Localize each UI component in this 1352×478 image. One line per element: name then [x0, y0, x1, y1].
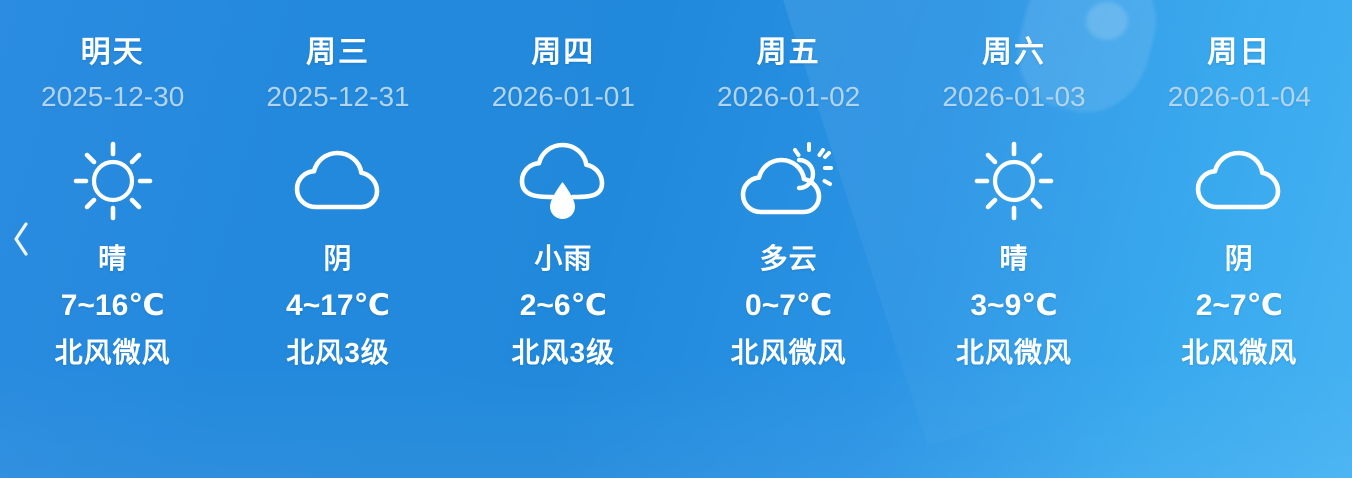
- forecast-day-card[interactable]: 周六 2026-01-03: [901, 0, 1126, 478]
- forecast-day-card[interactable]: 周五 2026-01-02: [676, 0, 901, 478]
- day-weekday-label: 周三: [306, 38, 370, 68]
- day-wind-label: 北风微风: [55, 339, 171, 367]
- day-wind-label: 北风微风: [731, 339, 847, 367]
- day-condition-label: 多云: [760, 245, 818, 273]
- sun-icon: [968, 135, 1060, 227]
- day-temperature-label: 7~16℃: [61, 291, 165, 321]
- day-temperature-label: 2~7℃: [1196, 291, 1283, 321]
- day-condition-label: 阴: [1225, 245, 1254, 273]
- day-wind-label: 北风微风: [956, 339, 1072, 367]
- forecast-day-card[interactable]: 周三 2025-12-31 阴 4~17℃ 北风3级: [225, 0, 450, 478]
- forecast-day-card[interactable]: 周日 2026-01-04 阴 2~7℃ 北风微风: [1127, 0, 1352, 478]
- weather-forecast-widget: 明天 2025-12-30: [0, 0, 1352, 478]
- day-date-label: 2026-01-04: [1168, 83, 1311, 111]
- day-weekday-label: 周六: [982, 38, 1046, 68]
- forecast-days-row: 明天 2025-12-30: [0, 0, 1352, 478]
- day-condition-label: 晴: [98, 245, 127, 273]
- day-condition-label: 阴: [323, 245, 352, 273]
- day-date-label: 2025-12-30: [41, 83, 184, 111]
- day-temperature-label: 4~17℃: [286, 291, 390, 321]
- weather-icon-container: [735, 133, 843, 229]
- day-weekday-label: 周日: [1207, 38, 1271, 68]
- day-date-label: 2026-01-03: [942, 83, 1085, 111]
- day-wind-label: 北风微风: [1181, 339, 1297, 367]
- day-temperature-label: 2~6℃: [520, 291, 607, 321]
- day-temperature-label: 0~7℃: [745, 291, 832, 321]
- day-weekday-label: 明天: [81, 38, 145, 68]
- day-weekday-label: 周五: [757, 38, 821, 68]
- day-wind-label: 北风3级: [286, 339, 390, 367]
- day-date-label: 2026-01-01: [492, 83, 635, 111]
- day-condition-label: 晴: [999, 245, 1028, 273]
- weather-icon-container: [513, 133, 613, 229]
- previous-days-button[interactable]: [4, 212, 38, 266]
- cloud-icon: [288, 141, 388, 221]
- partly-cloudy-icon: [735, 138, 843, 224]
- weather-icon-container: [968, 133, 1060, 229]
- rain-icon: [513, 135, 613, 227]
- forecast-day-card[interactable]: 周四 2026-01-01 小雨 2~6℃ 北风3级: [451, 0, 676, 478]
- chevron-left-icon: [10, 220, 32, 258]
- weather-icon-container: [1189, 133, 1289, 229]
- weather-icon-container: [288, 133, 388, 229]
- cloud-icon: [1189, 141, 1289, 221]
- day-condition-label: 小雨: [534, 245, 592, 273]
- day-wind-label: 北风3级: [512, 339, 616, 367]
- sun-icon: [67, 135, 159, 227]
- weather-icon-container: [67, 133, 159, 229]
- day-temperature-label: 3~9℃: [970, 291, 1057, 321]
- day-date-label: 2025-12-31: [266, 83, 409, 111]
- day-date-label: 2026-01-02: [717, 83, 860, 111]
- day-weekday-label: 周四: [531, 38, 595, 68]
